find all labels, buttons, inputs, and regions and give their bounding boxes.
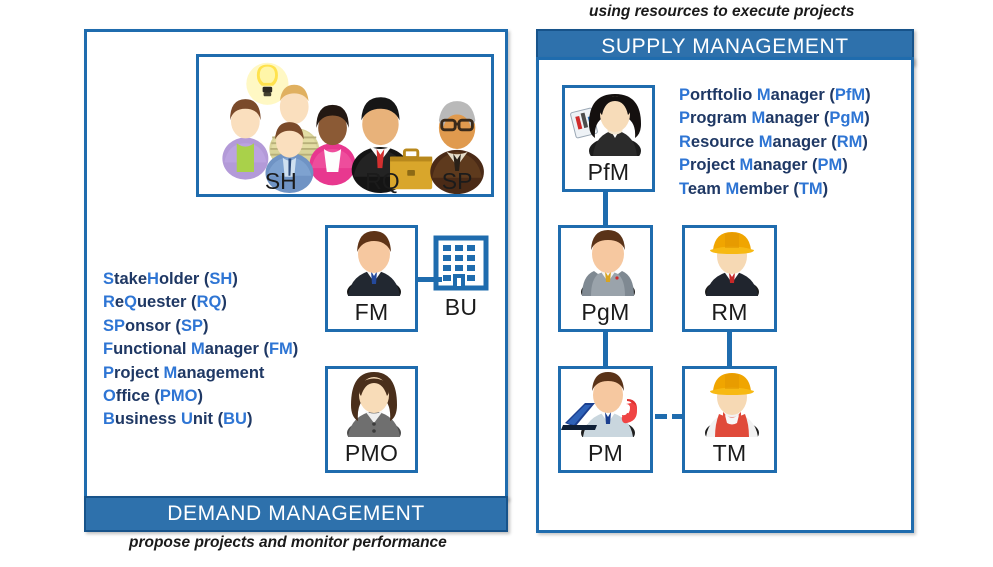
node-pfm[interactable]: PfM (562, 85, 655, 192)
node-rm[interactable]: RM (682, 225, 777, 332)
connector-pfm-to-pgm (603, 192, 608, 225)
supply-legend: Portftolio Manager (PfM) Program Manager… (679, 84, 871, 201)
businessman-grey-suit-icon (561, 224, 650, 301)
legend-row-sh: StakeHolder (SH) (103, 268, 298, 291)
worker-hardhat-overalls-icon (685, 365, 774, 442)
node-pgm[interactable]: PgM (558, 225, 653, 332)
node-pm-label: PM (588, 442, 623, 470)
connector-pgm-to-pm (603, 332, 608, 366)
node-pfm-label: PfM (588, 161, 630, 189)
svg-text:SP: SP (442, 168, 473, 194)
stakeholder-group-box: SH RQ SP (196, 54, 494, 197)
legend-row-rm: Resource Manager (RM) (679, 131, 871, 154)
manager-laptop-phone-icon (561, 365, 650, 442)
node-fm-label: FM (355, 301, 389, 329)
demand-legend: StakeHolder (SH) ReQuester (RQ) SPonsor … (103, 268, 298, 432)
legend-row-fm: Functional Manager (FM) (103, 338, 298, 361)
legend-row-pgm: Program Manager (PgM) (679, 107, 871, 130)
businesswoman-grey-icon (328, 365, 415, 442)
legend-row-tm: Team Member (TM) (679, 178, 871, 201)
legend-row-pmo-2: Office (PMO) (103, 385, 298, 408)
legend-row-rq: ReQuester (RQ) (103, 291, 298, 314)
supply-caption: using resources to execute projects (589, 3, 854, 21)
node-tm-label: TM (713, 442, 747, 470)
legend-row-pmo-1: Project Management (103, 362, 298, 385)
connector-pm-to-tm-dash-1 (655, 414, 667, 419)
svg-text:SH: SH (265, 168, 297, 194)
node-fm[interactable]: FM (325, 225, 418, 332)
diagram-canvas: using resources to execute projects SUPP… (0, 0, 993, 567)
node-pgm-label: PgM (581, 301, 629, 329)
demand-caption: propose projects and monitor performance (129, 534, 447, 552)
legend-row-bu: Business Unit (BU) (103, 408, 298, 431)
legend-row-pfm: Portftolio Manager (PfM) (679, 84, 871, 107)
supervisor-hardhat-icon (685, 224, 774, 301)
node-pmo[interactable]: PMO (325, 366, 418, 473)
connector-rm-to-tm (727, 332, 732, 366)
node-rm-label: RM (711, 301, 747, 329)
node-pmo-label: PMO (345, 442, 398, 470)
legend-row-sp: SPonsor (SP) (103, 315, 298, 338)
businesswoman-with-charts-icon (565, 84, 652, 161)
demand-management-banner: DEMAND MANAGEMENT (84, 496, 508, 532)
businessman-blue-tie-icon (328, 224, 415, 301)
node-bu-label: BU (430, 296, 492, 324)
office-building-icon[interactable] (430, 232, 492, 294)
node-tm[interactable]: TM (682, 366, 777, 473)
svg-text:RQ: RQ (365, 168, 399, 194)
legend-row-pm: Project Manager (PM) (679, 154, 871, 177)
node-pm[interactable]: PM (558, 366, 653, 473)
